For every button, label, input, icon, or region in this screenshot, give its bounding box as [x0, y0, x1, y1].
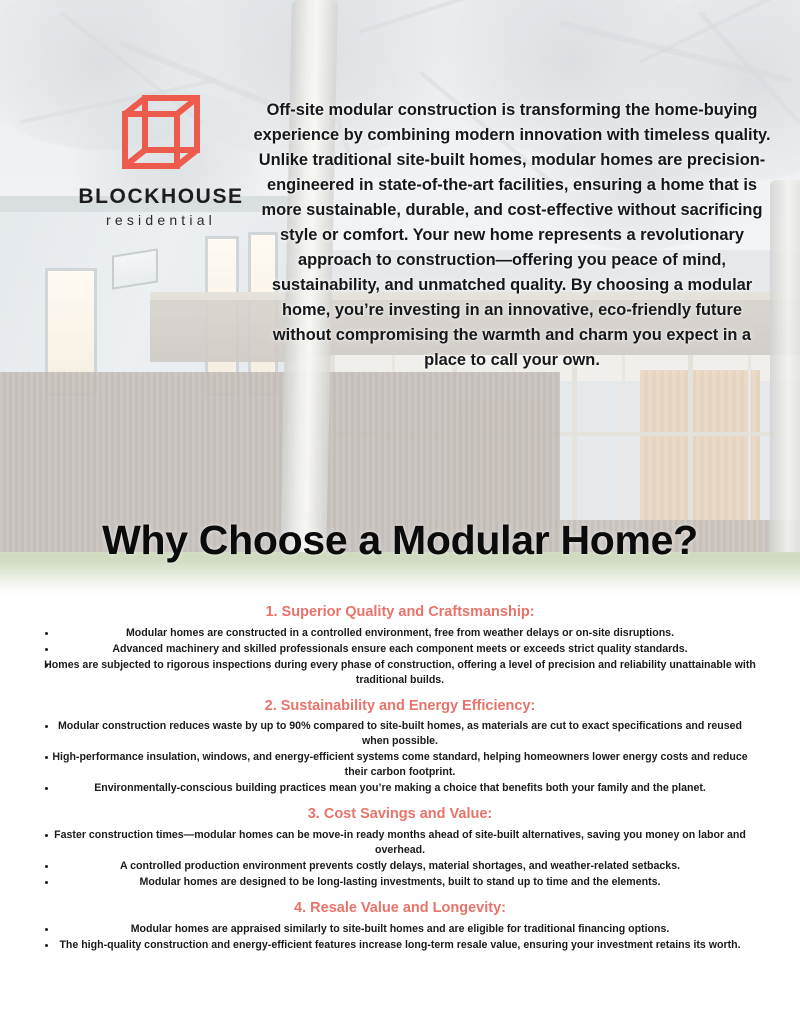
- brand-logo[interactable]: BLOCKHOUSE residential: [66, 92, 256, 228]
- window-clerestory: [112, 248, 158, 289]
- benefit-section: 2. Sustainability and Energy Efficiency:…: [0, 697, 800, 797]
- sections-list: 1. Superior Quality and Craftsmanship:Mo…: [0, 603, 800, 953]
- benefit-bullet-item: Faster construction times—modular homes …: [0, 828, 800, 858]
- benefit-section: 4. Resale Value and Longevity:Modular ho…: [0, 899, 800, 953]
- benefit-section: 3. Cost Savings and Value:Faster constru…: [0, 805, 800, 890]
- benefits-content: 1. Superior Quality and Craftsmanship:Mo…: [0, 597, 800, 953]
- section-heading: 1. Superior Quality and Craftsmanship:: [0, 603, 800, 623]
- benefit-bullet-item: Homes are subjected to rigorous inspecti…: [0, 658, 800, 688]
- hero-section: BLOCKHOUSE residential Off-site modular …: [0, 0, 800, 597]
- benefit-bullet-item: Advanced machinery and skilled professio…: [0, 642, 800, 657]
- wireframe-cube-icon: [119, 92, 203, 176]
- benefit-bullet-item: Modular homes are appraised similarly to…: [0, 922, 800, 937]
- benefit-bullet-item: Environmentally-conscious building pract…: [0, 781, 800, 796]
- section-heading: 2. Sustainability and Energy Efficiency:: [0, 697, 800, 717]
- benefit-bullet-list: Faster construction times—modular homes …: [0, 828, 800, 890]
- brochure-page: BLOCKHOUSE residential Off-site modular …: [0, 0, 800, 1036]
- benefit-bullet-item: Modular construction reduces waste by up…: [0, 719, 800, 749]
- benefit-bullet-item: Modular homes are constructed in a contr…: [0, 626, 800, 641]
- benefit-bullet-list: Modular construction reduces waste by up…: [0, 719, 800, 796]
- intro-paragraph: Off-site modular construction is transfo…: [252, 98, 772, 372]
- benefit-bullet-item: Modular homes are designed to be long-la…: [0, 875, 800, 890]
- benefit-bullet-list: Modular homes are constructed in a contr…: [0, 626, 800, 688]
- benefit-section: 1. Superior Quality and Craftsmanship:Mo…: [0, 603, 800, 688]
- page-title: Why Choose a Modular Home?: [0, 517, 800, 564]
- benefit-bullet-item: High-performance insulation, windows, an…: [0, 750, 800, 780]
- brand-name: BLOCKHOUSE: [66, 186, 256, 208]
- benefit-bullet-list: Modular homes are appraised similarly to…: [0, 922, 800, 953]
- section-heading: 4. Resale Value and Longevity:: [0, 899, 800, 919]
- benefit-bullet-item: The high-quality construction and energy…: [0, 938, 800, 953]
- section-heading: 3. Cost Savings and Value:: [0, 805, 800, 825]
- benefit-bullet-item: A controlled production environment prev…: [0, 859, 800, 874]
- brand-tagline: residential: [66, 212, 256, 228]
